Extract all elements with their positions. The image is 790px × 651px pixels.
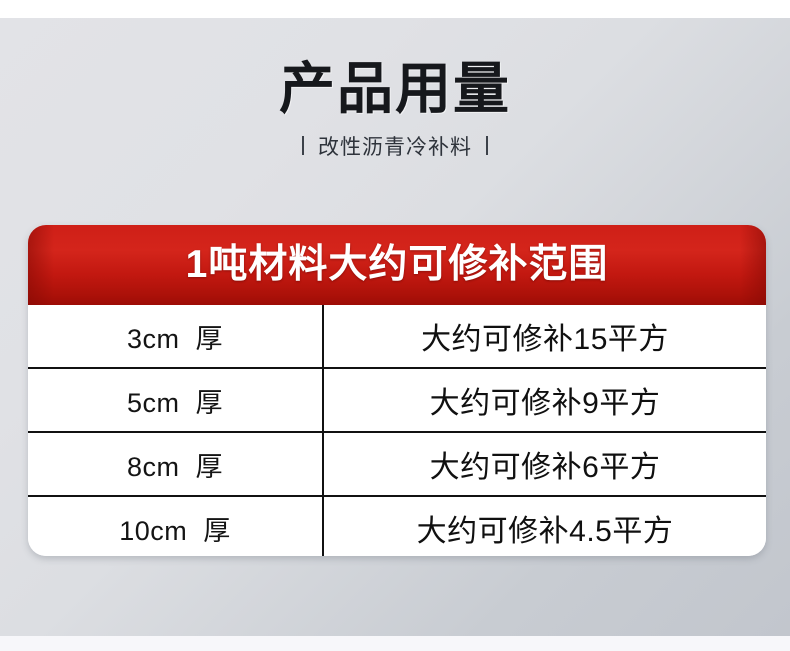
thickness-value: 3cm 厚 xyxy=(127,324,223,354)
subtitle-right-bar-icon xyxy=(486,136,488,155)
banner-title: 1吨材料大约可修补范围 xyxy=(28,225,766,305)
background-bottom-strip xyxy=(0,636,790,651)
table-cell-thickness: 10cm 厚 xyxy=(28,496,323,556)
usage-table: 3cm 厚 大约可修补15平方 5cm 厚 大约可修补9平方 xyxy=(28,305,766,556)
table-row: 3cm 厚 大约可修补15平方 xyxy=(28,305,766,368)
table-cell-area: 大约可修补15平方 xyxy=(323,305,766,368)
area-value: 大约可修补9平方 xyxy=(430,387,661,420)
thickness-value: 10cm 厚 xyxy=(119,516,231,546)
thickness-value: 8cm 厚 xyxy=(127,452,223,482)
card-banner: 1吨材料大约可修补范围 xyxy=(28,225,766,305)
subtitle-row: 改性沥青冷补料 xyxy=(0,131,790,161)
table-cell-thickness: 3cm 厚 xyxy=(28,305,323,368)
background-top-strip xyxy=(0,0,790,18)
product-usage-infographic: 产品用量 改性沥青冷补料 1吨材料大约可修补范围 3cm 厚 大约可修补15平方 xyxy=(0,0,790,651)
table-cell-area: 大约可修补4.5平方 xyxy=(323,496,766,556)
table-cell-area: 大约可修补6平方 xyxy=(323,432,766,496)
subtitle-left-bar-icon xyxy=(302,136,304,155)
table-cell-area: 大约可修补9平方 xyxy=(323,368,766,432)
page-title: 产品用量 xyxy=(0,60,790,119)
table-row: 10cm 厚 大约可修补4.5平方 xyxy=(28,496,766,556)
header-block: 产品用量 改性沥青冷补料 xyxy=(0,60,790,161)
table-row: 8cm 厚 大约可修补6平方 xyxy=(28,432,766,496)
subtitle-text: 改性沥青冷补料 xyxy=(318,131,472,161)
table-cell-thickness: 8cm 厚 xyxy=(28,432,323,496)
thickness-value: 5cm 厚 xyxy=(127,388,223,418)
area-value: 大约可修补15平方 xyxy=(421,323,669,356)
area-value: 大约可修补6平方 xyxy=(430,451,661,484)
table-cell-thickness: 5cm 厚 xyxy=(28,368,323,432)
usage-card: 1吨材料大约可修补范围 3cm 厚 大约可修补15平方 5cm 厚 xyxy=(28,225,766,556)
area-value: 大约可修补4.5平方 xyxy=(417,515,674,548)
usage-table-body: 3cm 厚 大约可修补15平方 5cm 厚 大约可修补9平方 xyxy=(28,305,766,556)
table-row: 5cm 厚 大约可修补9平方 xyxy=(28,368,766,432)
